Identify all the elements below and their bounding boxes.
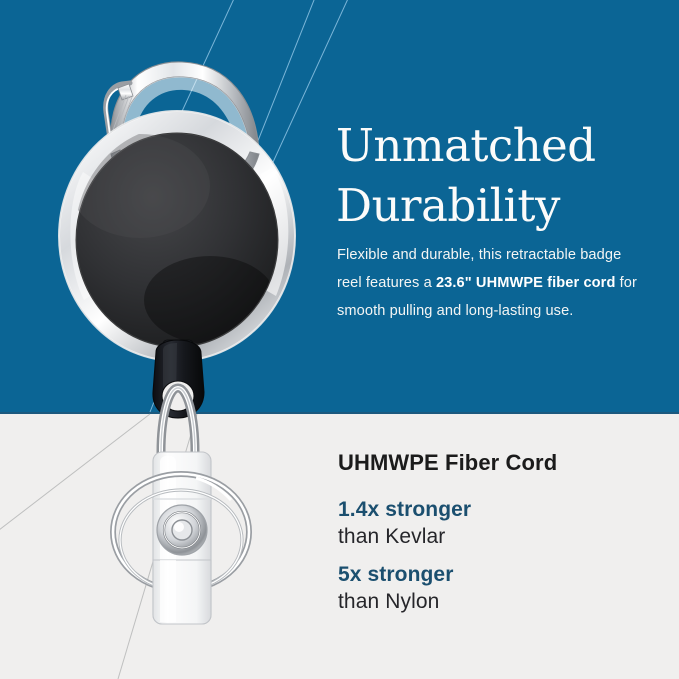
stat-kevlar: 1.4x stronger than Kevlar	[338, 497, 638, 551]
stat-nylon-label: than Nylon	[338, 588, 638, 615]
product-description: Flexible and durable, this retractable b…	[337, 241, 637, 325]
stat-kevlar-value: 1.4x stronger	[338, 497, 638, 523]
snap-button	[157, 505, 207, 555]
product-photo	[0, 0, 340, 679]
strap-connector	[153, 340, 204, 418]
headline-line-2: Durability	[336, 176, 666, 236]
page-title: Unmatched Durability	[336, 116, 666, 236]
headline-line-1: Unmatched	[336, 119, 596, 172]
spec-title: UHMWPE Fiber Cord	[338, 450, 557, 476]
stat-nylon: 5x stronger than Nylon	[338, 562, 638, 616]
description-highlight: 23.6" UHMWPE fiber cord	[436, 275, 616, 291]
stat-kevlar-label: than Kevlar	[338, 523, 638, 550]
product-marketing-image: Unmatched Durability Flexible and durabl…	[0, 0, 679, 679]
vinyl-strap-tail	[153, 560, 211, 624]
stat-nylon-value: 5x stronger	[338, 562, 638, 588]
